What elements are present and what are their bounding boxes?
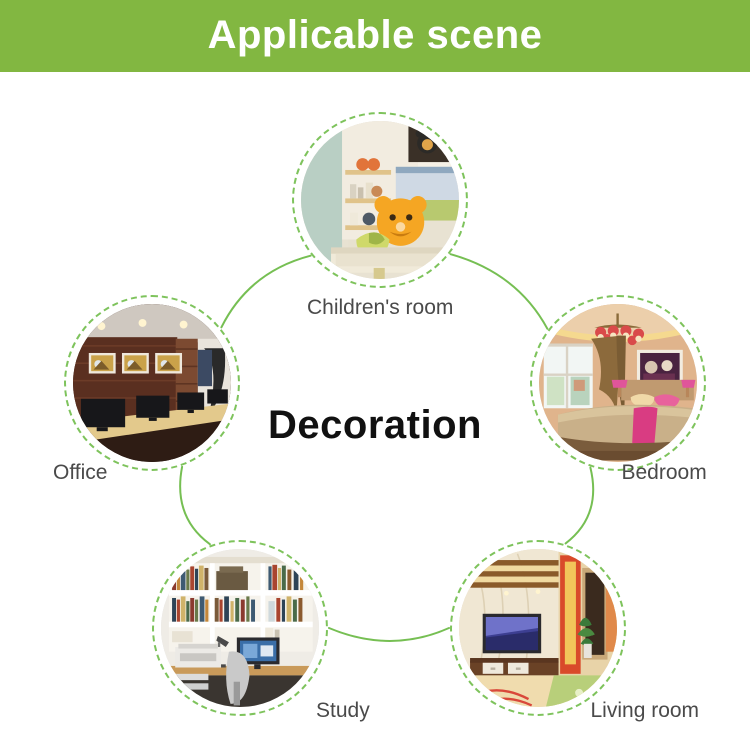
connector-childrens-room-to-bedroom bbox=[451, 254, 548, 329]
center-label: Decoration bbox=[0, 405, 750, 445]
scene-photo-living-room[interactable] bbox=[459, 549, 617, 707]
scene-label-living-room: Living room bbox=[591, 700, 700, 721]
scene-label-study: Study bbox=[316, 700, 370, 721]
connector-bedroom-to-living-room bbox=[566, 468, 594, 544]
scene-label-bedroom: Bedroom bbox=[622, 462, 707, 483]
connector-living-room-to-study bbox=[329, 628, 449, 641]
connector-office-to-childrens-room bbox=[221, 256, 310, 328]
scene-label-office: Office bbox=[53, 462, 107, 483]
scene-photo-childrens-room[interactable] bbox=[301, 121, 459, 279]
page-canvas: Applicable scene Children's roomOfficeBe… bbox=[0, 0, 750, 750]
scene-label-childrens-room: Children's room bbox=[307, 297, 453, 318]
scene-photo-study[interactable] bbox=[161, 549, 319, 707]
connector-study-to-office bbox=[180, 467, 210, 544]
